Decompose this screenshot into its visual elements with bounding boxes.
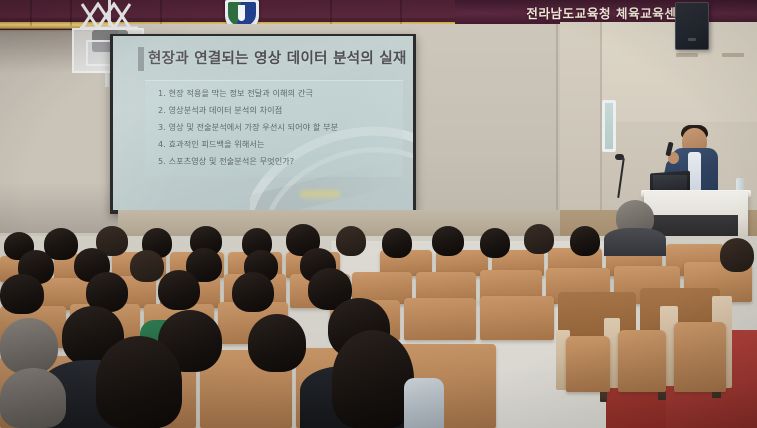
audience-head	[480, 228, 510, 258]
audience-head	[720, 238, 754, 272]
audience-head	[524, 224, 554, 254]
retractable-basketball-hoop-icon	[78, 2, 140, 30]
audience-head	[0, 368, 66, 428]
wall-vent	[676, 53, 698, 57]
audience-head	[336, 226, 366, 256]
microphone-head	[615, 154, 624, 160]
wall-vent	[722, 53, 744, 57]
audience-head	[570, 226, 600, 256]
hoop-post	[105, 73, 109, 87]
seat	[404, 298, 476, 340]
screen-glare	[113, 36, 413, 210]
audience-head	[158, 270, 200, 310]
auditorium-photo: 전라남도교육청 체육교육센터 현장과 연결되는 영상 데이터 분석의 실재 1.	[0, 0, 757, 428]
wall-seam	[556, 24, 558, 234]
valance-fold	[160, 0, 162, 26]
audience-shoulders	[604, 228, 666, 256]
audience-head	[0, 274, 44, 314]
narrow-window-icon	[602, 100, 616, 152]
audience-head	[130, 250, 164, 282]
audience-head	[0, 318, 58, 374]
valance-fold	[400, 0, 402, 26]
wall-speaker-icon	[675, 2, 709, 50]
wall-speaker-badge	[688, 38, 696, 41]
seat	[674, 322, 726, 392]
audience-head	[248, 314, 306, 372]
valance-fold	[70, 0, 72, 26]
audience-head	[332, 330, 414, 428]
audience-head	[432, 226, 464, 256]
audience-head	[382, 228, 412, 258]
seat	[618, 330, 666, 392]
valance-fold	[330, 0, 332, 26]
seat	[480, 296, 554, 340]
audience-head	[232, 272, 274, 312]
seat	[566, 336, 610, 392]
audience-scarf	[404, 378, 444, 428]
valance-fold	[30, 0, 32, 26]
audience-head	[96, 336, 182, 428]
shield-crest-mark	[238, 5, 245, 21]
